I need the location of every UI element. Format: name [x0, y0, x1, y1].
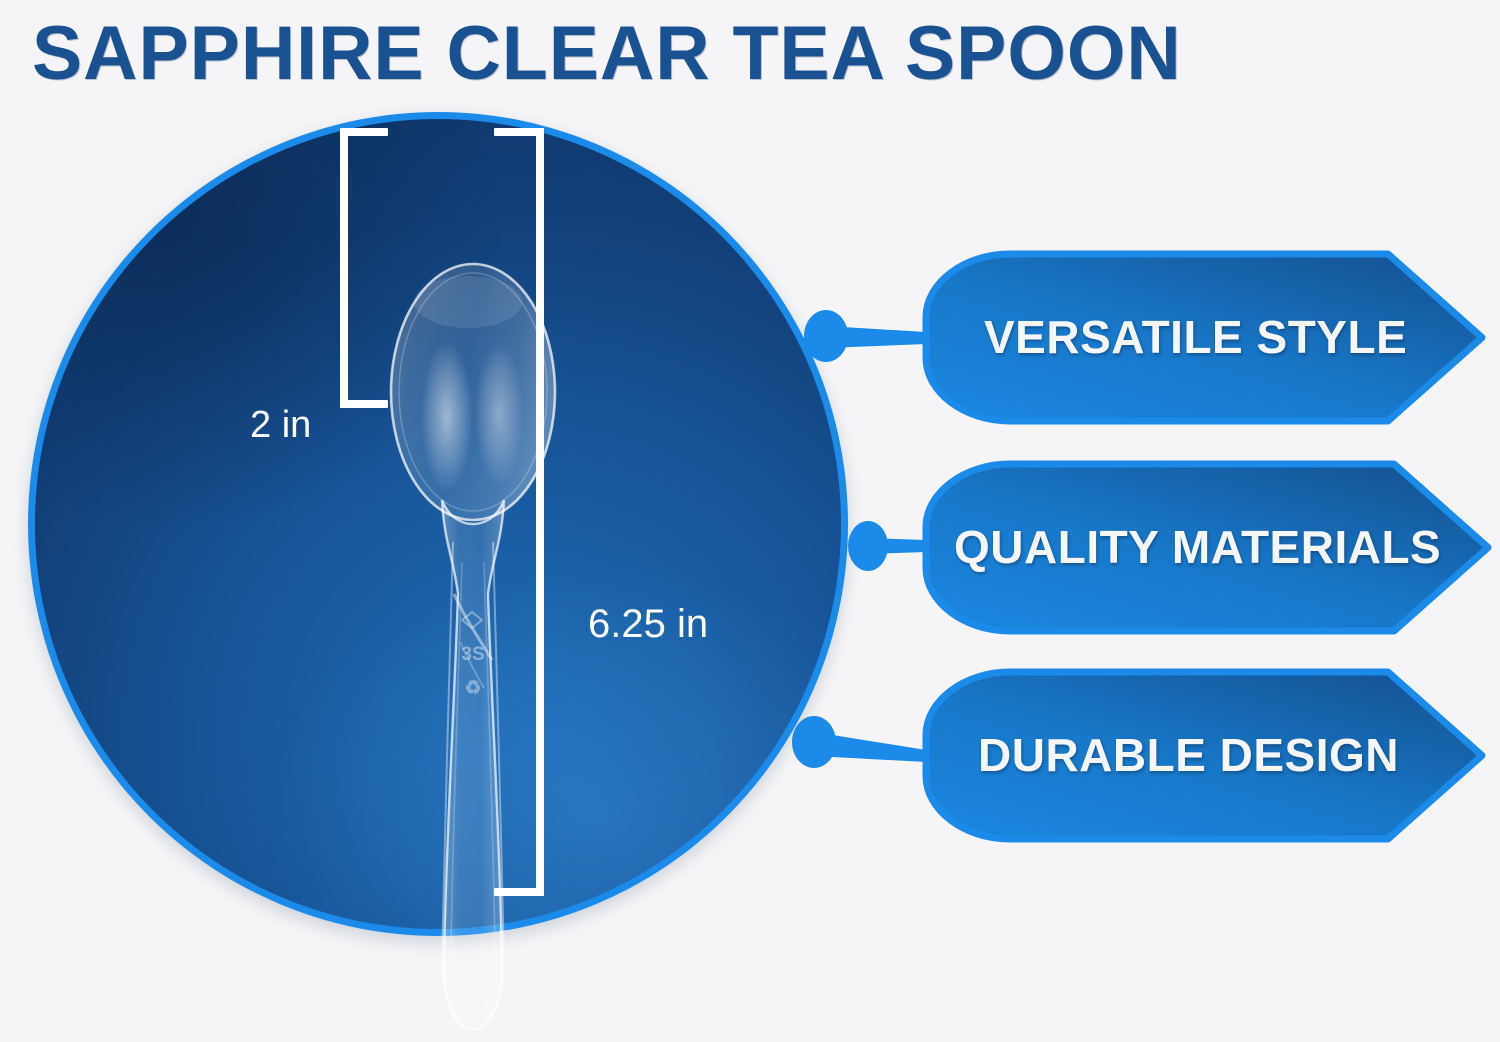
feature-label-durable-design: DURABLE DESIGN [978, 668, 1399, 843]
feature-banner-durable-design[interactable]: DURABLE DESIGN [922, 668, 1488, 843]
infographic-stage: 3S ♻ 2 in 6.25 in [0, 0, 1500, 986]
feature-banner-quality-materials[interactable]: QUALITY MATERIALS [922, 460, 1494, 635]
product-circle: 3S ♻ 2 in 6.25 in [28, 112, 848, 936]
connector-quality-materials [848, 521, 926, 571]
dimension-bowl-length: 2 in [250, 404, 311, 447]
svg-text:3S: 3S [461, 644, 484, 665]
product-infographic: SAPPHIRE CLEAR TEA SPOON [0, 0, 1500, 986]
feature-label-versatile-style: VERSATILE STYLE [984, 250, 1407, 425]
connector-durable-design [792, 716, 926, 768]
dimension-total-length: 6.25 in [588, 602, 708, 647]
feature-banner-versatile-style[interactable]: VERSATILE STYLE [922, 250, 1488, 425]
svg-text:♻: ♻ [464, 678, 481, 699]
tea-spoon-image: 3S ♻ [358, 242, 588, 1042]
connector-versatile-style [804, 310, 926, 362]
feature-label-quality-materials: QUALITY MATERIALS [954, 460, 1441, 635]
